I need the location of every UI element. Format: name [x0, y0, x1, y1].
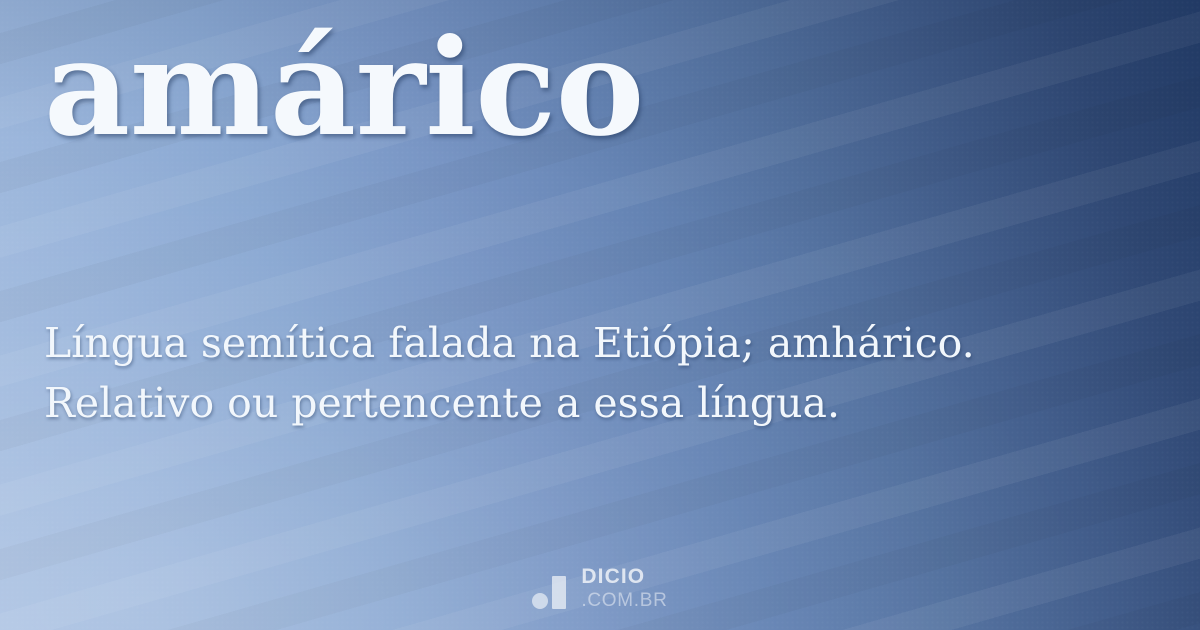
brand-wordmark: DICIO .COM.BR: [581, 566, 667, 611]
brand-tld: .COM.BR: [581, 591, 667, 610]
brand-logo: DICIO .COM.BR: [0, 566, 1200, 611]
brand-mark: [532, 573, 570, 611]
definition-line: Língua semítica falada na Etiópia; amhár…: [44, 313, 1154, 373]
bar-mark-icon: [552, 576, 566, 609]
brand-name: DICIO: [581, 566, 667, 587]
circle-mark-icon: [532, 593, 548, 609]
card-content: amárico Língua semítica falada na Etiópi…: [0, 0, 1200, 630]
definition-list: Língua semítica falada na Etiópia; amhár…: [44, 313, 1154, 433]
page-title: amárico: [44, 22, 644, 155]
definition-line: Relativo ou pertencente a essa língua.: [44, 373, 1154, 433]
share-card: amárico Língua semítica falada na Etiópi…: [0, 0, 1200, 630]
